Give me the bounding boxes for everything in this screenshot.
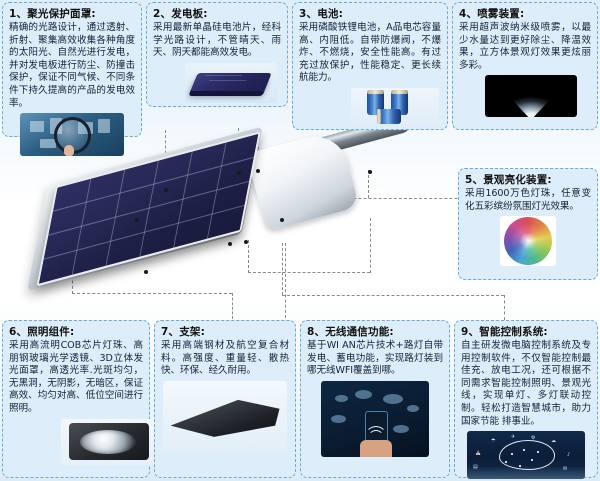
callout-panel-5[interactable]: 5、景观亮化装置: 采用1600万色灯珠，任意变化五彩缤纷氛围灯光效果。: [458, 168, 598, 280]
panel-2-title: 2、发电板:: [153, 8, 281, 21]
callout-dot-panel-4: [256, 169, 260, 173]
panel-3-body: 采用磷酸铁锂电池，A品电芯容量高、内阻低。自带防爆阀，不爆炸、不燃烧，安全性能高…: [299, 22, 441, 85]
panel-9-body: 自主研发微电脑控制系统及专用控制软件，不仅智能控制最佳充、放电工况，还可根据不同…: [461, 340, 591, 428]
callout-panel-2[interactable]: 2、发电板: 采用最新单晶硅电池片，经科学光路设计，不管晴天、雨天、阴天都能高效…: [146, 2, 288, 107]
product-image-solar-street-lamp: [18, 140, 448, 320]
spray-beam-icon: [485, 75, 577, 117]
cob-led-module-icon: [61, 419, 157, 465]
panel-1-title: 1、聚光保护面罩:: [9, 8, 135, 21]
callout-panel-6[interactable]: 6、照明组件: 采用高流明COB芯片灯珠、高朋钢玻璃光学透镜、3D立体发光面罩，…: [2, 320, 150, 478]
panel-3-title: 3、电池:: [299, 8, 441, 21]
panel-7-title: 7、支架:: [161, 326, 289, 339]
callout-dot-panel-7: [144, 270, 148, 274]
smart-city-brain-icon: ⛪ ☂ ✈ ⚙ ☁ ♪ ▤ ✉: [467, 431, 585, 479]
callout-panel-9[interactable]: 9、智能控制系统: 自主研发微电脑控制系统及专用控制软件，不仅智能控制最佳充、放…: [454, 320, 598, 478]
callout-panel-3[interactable]: 3、电池: 采用磷酸铁锂电池，A品电芯容量高、内阻低。自带防爆阀，不爆炸、不燃烧…: [292, 2, 448, 130]
callout-panel-7[interactable]: 7、支架: 采用高端钢材及航空复合材料。高强度、重量轻、散热快、环保、经久耐用。: [154, 320, 296, 478]
panel-6-body: 采用高流明COB芯片灯珠、高朋钢玻璃光学透镜、3D立体发光面罩，高透光率.光斑均…: [9, 340, 143, 416]
callout-dot-panel-3: [237, 171, 241, 175]
callout-dot-panel-9: [244, 240, 248, 244]
panel-6-title: 6、照明组件:: [9, 326, 143, 339]
magnifier-icon: [20, 113, 124, 156]
callout-dot-panel-6: [280, 218, 284, 222]
panel-9-title: 9、智能控制系统:: [461, 326, 591, 339]
panel-8-title: 8、无线通信功能:: [307, 326, 443, 339]
panel-5-title: 5、景观亮化装置:: [465, 174, 591, 187]
callout-dot-panel-1: [164, 188, 168, 192]
panel-7-body: 采用高端钢材及航空复合材料。高强度、重量轻、散热快、环保、经久耐用。: [161, 340, 289, 378]
panel-1-body: 精确的光路设计，通过透射、折射、聚集高效收集各种角度的太阳光、自然光进行发电，并…: [9, 22, 135, 110]
battery-cells-icon: [351, 88, 439, 126]
panel-2-body: 采用最新单晶硅电池片，经科学光路设计，不管晴天、雨天、阴天都能高效发电。: [153, 22, 281, 60]
callout-panel-1[interactable]: 1、聚光保护面罩: 精确的光路设计，通过透射、折射、聚集高效收集各种角度的太阳光…: [2, 2, 142, 137]
wifi-icon: [321, 381, 429, 457]
panel-5-body: 采用1600万色灯珠，任意变化五彩缤纷氛围灯光效果。: [465, 188, 591, 213]
callout-panel-8[interactable]: 8、无线通信功能: 基于WI AN芯片技术+路灯自带发电、蓄电功能，实现路灯装到…: [300, 320, 450, 478]
panel-4-body: 采用超声波纳米级喷雾，以最少水量达到更好除尘、降温效果，立方体景观灯效果更炫丽多…: [459, 22, 591, 72]
infographic-root: 1、聚光保护面罩: 精确的光路设计，通过透射、折射、聚集高效收集各种角度的太阳光…: [0, 0, 600, 481]
callout-dot-panel-8: [228, 242, 232, 246]
callout-dot-panel-5: [368, 170, 372, 174]
callout-panel-4[interactable]: 4、喷雾装置: 采用超声波纳米级喷雾，以最少水量达到更好除尘、降温效果，立方体景…: [452, 2, 598, 130]
panel-8-body: 基于WI AN芯片技术+路灯自带发电、蓄电功能，实现路灯装到哪无线WFI覆盖到哪…: [307, 340, 443, 378]
solar-cell-icon: [185, 63, 277, 103]
color-wheel-icon: [500, 216, 556, 266]
panel-4-title: 4、喷雾装置:: [459, 8, 591, 21]
callout-dot-panel-2: [135, 218, 139, 222]
bracket-icon: [163, 381, 287, 453]
